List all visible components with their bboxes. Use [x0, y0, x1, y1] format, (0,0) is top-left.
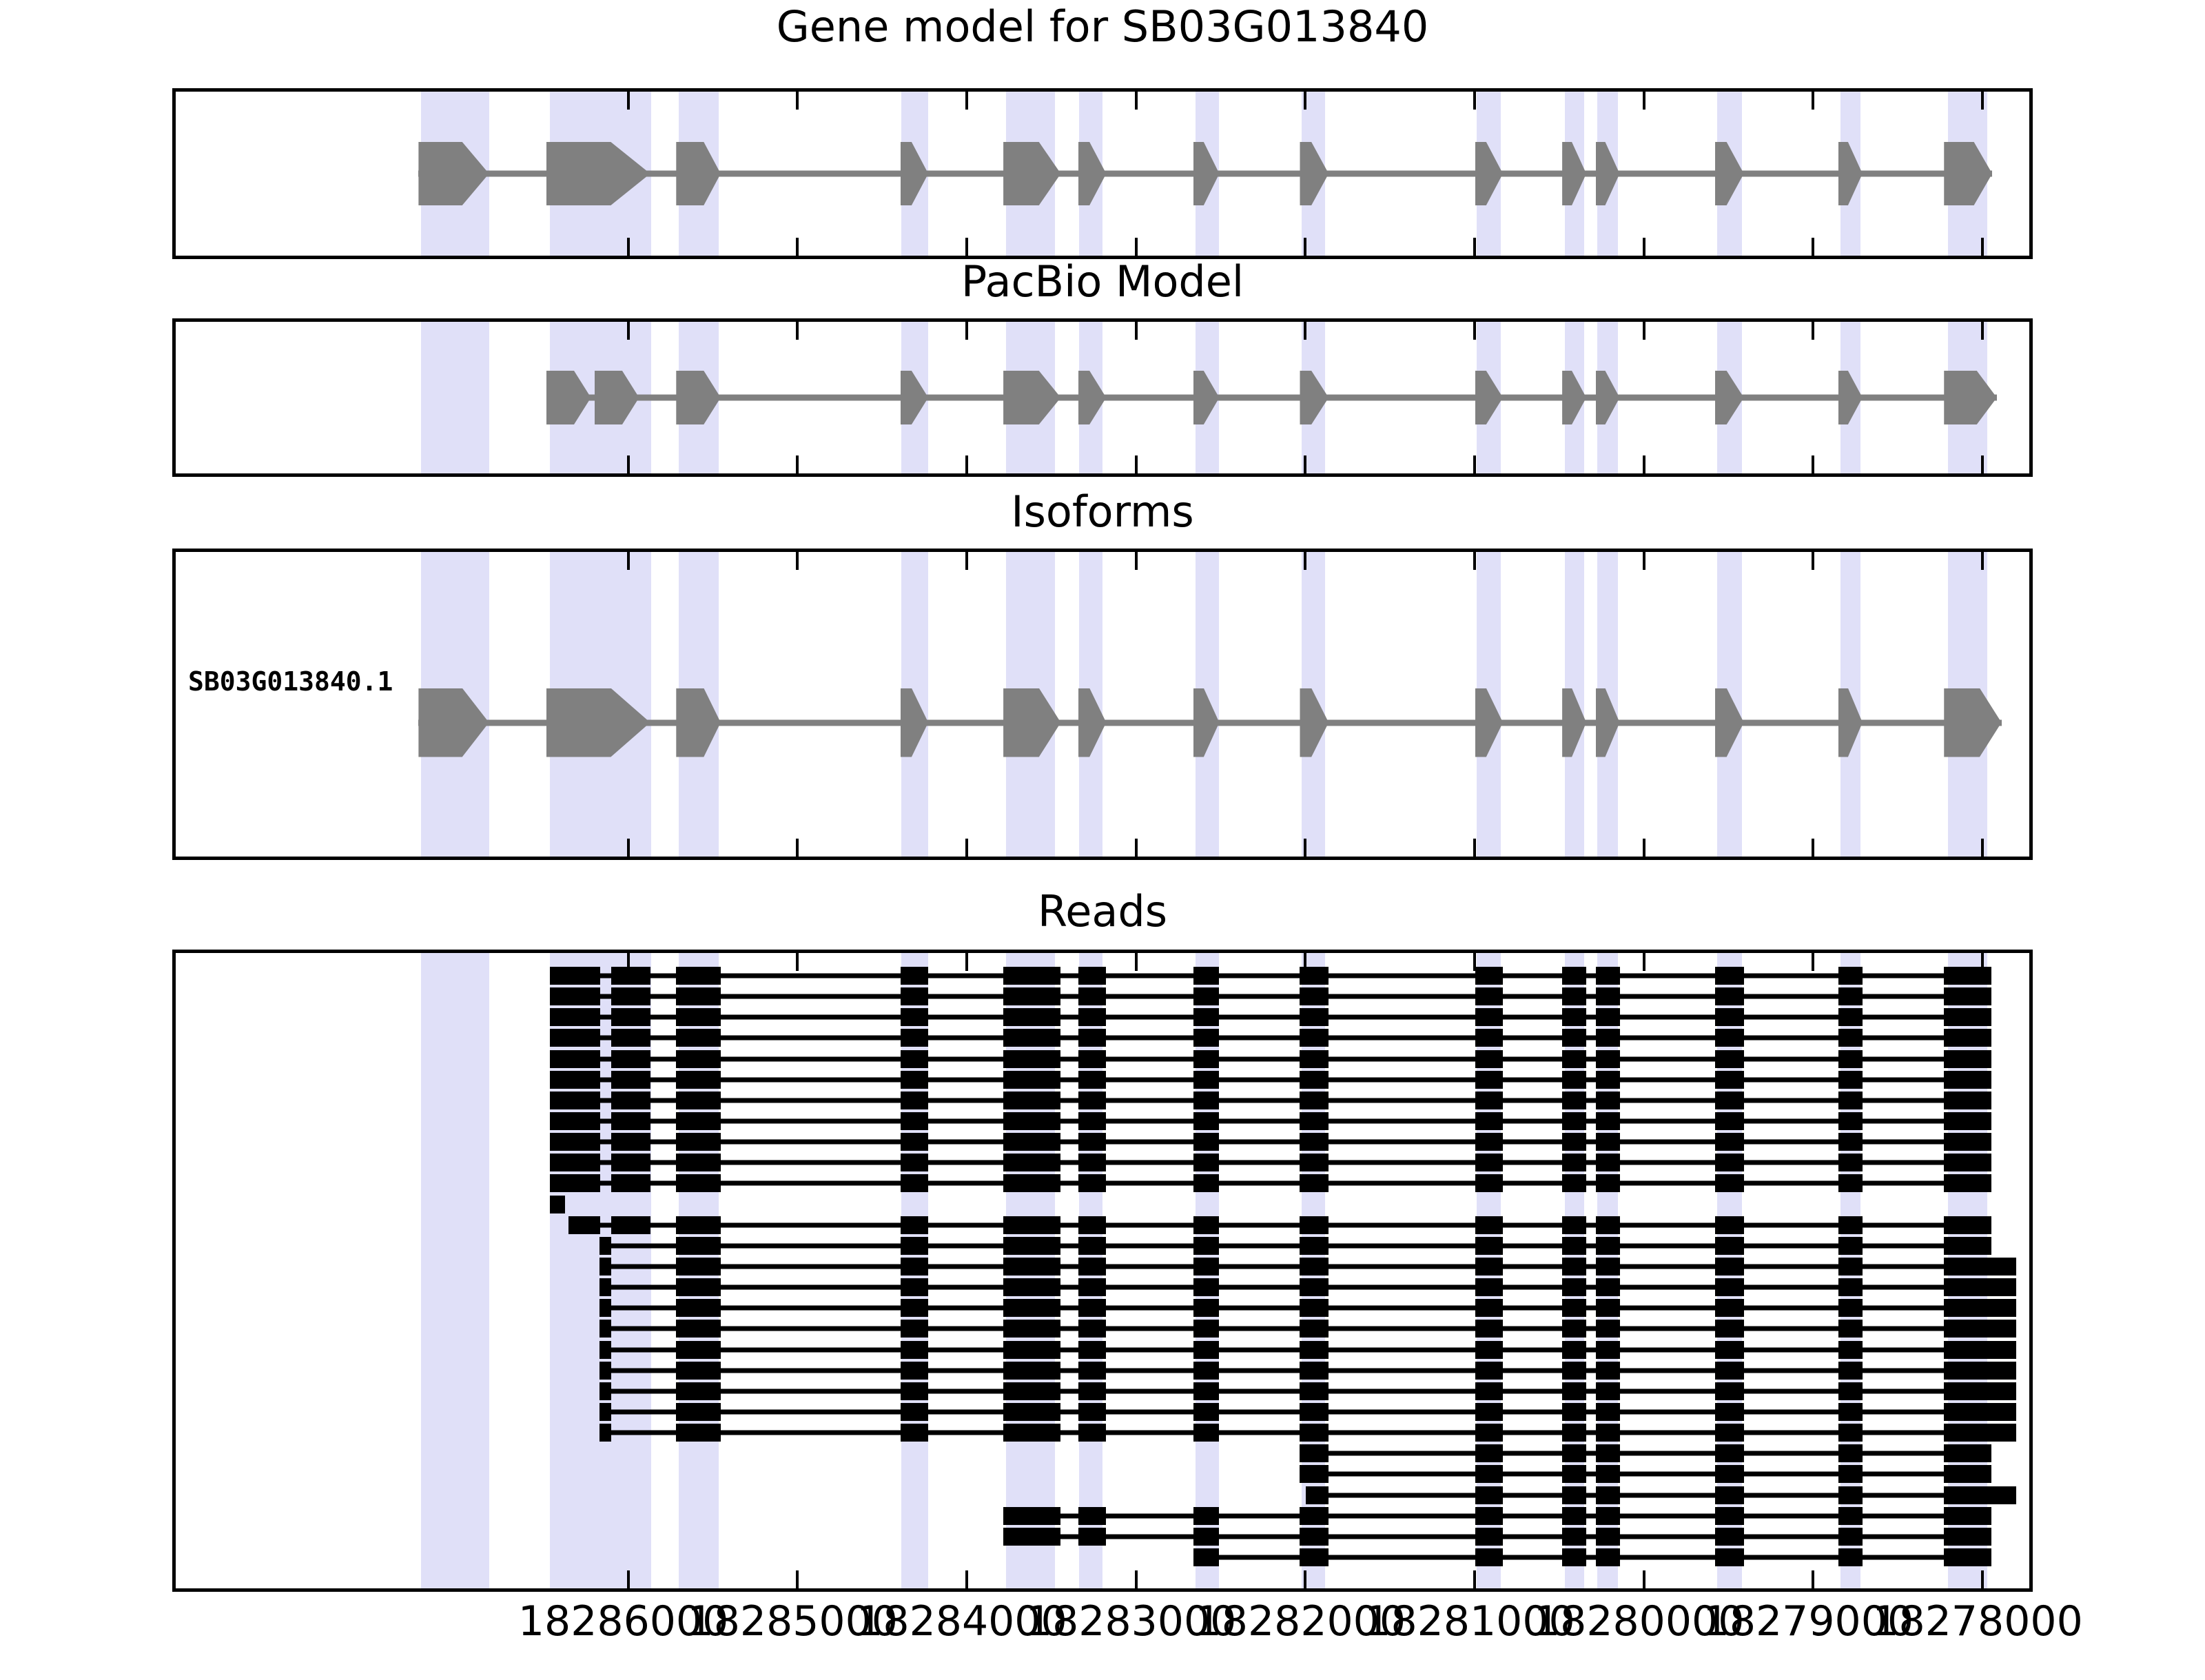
read-exon-block [676, 1403, 721, 1421]
read-exon-block [676, 1278, 721, 1296]
read-exon-block [1562, 1362, 1586, 1380]
axis-tick [1981, 839, 1984, 857]
axis-tick [1643, 953, 1645, 971]
read-exon-block [1300, 1507, 1329, 1525]
axis-tick [1135, 953, 1138, 971]
read-exon-block [1300, 1216, 1329, 1234]
read-exon-block [1562, 1071, 1586, 1089]
intron-line [546, 395, 1997, 401]
read-exon-block [1596, 1029, 1620, 1047]
axis-tick [1473, 1570, 1476, 1588]
read-exon-block [1715, 1382, 1744, 1400]
read-exon-block [1193, 1112, 1220, 1130]
read-exon-block [1300, 1320, 1329, 1338]
axis-tick [1304, 839, 1306, 857]
read-exon-block [1838, 1465, 1863, 1483]
read-exon-block [1944, 1424, 2016, 1442]
read-exon-block [1300, 1092, 1329, 1109]
read-exon-block [676, 1362, 721, 1380]
read-exon-block [1596, 1444, 1620, 1462]
axis-tick [1981, 92, 1984, 110]
read-exon-block [1838, 1278, 1863, 1296]
read-exon-block [1078, 1112, 1106, 1130]
read-exon-block [568, 1216, 600, 1234]
read-exon-block [1596, 1507, 1620, 1525]
read-exon-block [1300, 1029, 1329, 1047]
read-exon-block [599, 1299, 611, 1317]
read-exon-block [901, 1299, 928, 1317]
read-exon-block [1838, 1320, 1863, 1338]
read-exon-block [1715, 1174, 1744, 1192]
axis-tick [1304, 92, 1306, 110]
read-exon-block [1003, 1362, 1060, 1380]
read-exon-block [1193, 1154, 1220, 1171]
read-exon-block [1838, 1216, 1863, 1234]
axis-tick [1812, 953, 1814, 971]
read-exon-block [1838, 1299, 1863, 1317]
read-exon-block [901, 1237, 928, 1255]
read-exon-block [1944, 1341, 2016, 1359]
read-exon-block [901, 1216, 928, 1234]
read-exon-block [1193, 1403, 1220, 1421]
read-exon-block [901, 1133, 928, 1151]
read-exon-block [1562, 1382, 1586, 1400]
read-exon-block [1003, 1174, 1060, 1192]
read-exon-block [1596, 1050, 1620, 1068]
read-exon-block [1078, 1362, 1106, 1380]
axis-tick [965, 455, 968, 473]
axis-tick [627, 455, 630, 473]
read-exon-block [1003, 1029, 1060, 1047]
axis-tick [627, 322, 630, 340]
read-exon-block [1944, 1465, 1991, 1483]
read-exon-block [1715, 1403, 1744, 1421]
read-exon-block [611, 987, 650, 1005]
read-exon-block [1078, 1174, 1106, 1192]
read-exon-block [1193, 1258, 1220, 1276]
read-exon-block [1300, 1050, 1329, 1068]
axis-tick [1135, 92, 1138, 110]
read-exon-block [901, 1320, 928, 1338]
read-exon-block [1475, 1444, 1503, 1462]
read-exon-block [611, 967, 650, 985]
read-exon-block [1003, 1299, 1060, 1317]
read-exon-block [1944, 1278, 2016, 1296]
read-exon-block [550, 967, 600, 985]
axis-tick [1643, 455, 1645, 473]
read-exon-block [1003, 1341, 1060, 1359]
read-exon-block [1562, 1112, 1586, 1130]
read-exon-block [1562, 1029, 1586, 1047]
read-exon-block [1715, 1507, 1744, 1525]
read-alignment-line [1300, 1472, 1991, 1477]
read-exon-block [1193, 1320, 1220, 1338]
read-exon-block [1562, 1528, 1586, 1546]
read-exon-block [1838, 1154, 1863, 1171]
read-exon-block [1596, 1299, 1620, 1317]
read-exon-block [676, 1029, 721, 1047]
read-exon-block [599, 1237, 611, 1255]
read-exon-block [1300, 1278, 1329, 1296]
axis-tick [796, 839, 799, 857]
read-exon-block [1078, 1133, 1106, 1151]
read-exon-block [550, 1029, 600, 1047]
pacbio-model-axes [172, 318, 2033, 477]
read-exon-block [1596, 1237, 1620, 1255]
axis-tick [1812, 238, 1814, 256]
read-exon-block [550, 987, 600, 1005]
read-exon-block [1596, 1486, 1620, 1504]
read-exon-block [1944, 1548, 1991, 1566]
axis-tick [1812, 92, 1814, 110]
read-alignment-line [599, 1243, 1991, 1248]
read-exon-block [1838, 1029, 1863, 1047]
read-exon-block [901, 1071, 928, 1089]
read-exon-block [1715, 1216, 1744, 1234]
read-exon-block [676, 1299, 721, 1317]
read-exon-block [1562, 1424, 1586, 1442]
axis-tick [1135, 839, 1138, 857]
read-exon-block [550, 1196, 565, 1213]
read-exon-block [1078, 987, 1106, 1005]
read-exon-block [1838, 1092, 1863, 1109]
read-exon-block [1078, 1528, 1106, 1546]
read-exon-block [1562, 1465, 1586, 1483]
read-exon-block [1078, 1320, 1106, 1338]
axis-tick [796, 238, 799, 256]
read-exon-block [1838, 1424, 1863, 1442]
read-exon-block [1003, 1278, 1060, 1296]
read-exon-block [1300, 1071, 1329, 1089]
read-exon-block [1715, 1548, 1744, 1566]
read-exon-block [1475, 1528, 1503, 1546]
read-exon-block [1944, 967, 1991, 985]
read-exon-block [611, 1133, 650, 1151]
read-alignment-line [1300, 1451, 1991, 1456]
read-exon-block [1715, 1154, 1744, 1171]
read-exon-block [901, 1278, 928, 1296]
read-exon-block [901, 1362, 928, 1380]
read-exon-block [1596, 1071, 1620, 1089]
read-exon-block [1193, 967, 1220, 985]
read-exon-block [1475, 967, 1503, 985]
read-exon-block [1596, 1278, 1620, 1296]
read-exon-block [1003, 1424, 1060, 1442]
axis-tick [965, 552, 968, 570]
read-exon-block [1596, 1174, 1620, 1192]
read-exon-block [1475, 1133, 1503, 1151]
axis-tick [965, 953, 968, 971]
read-exon-block [1715, 1092, 1744, 1109]
isoform-label: SB03G013840.1 [188, 666, 393, 697]
read-exon-block [676, 1382, 721, 1400]
read-exon-block [1475, 1486, 1503, 1504]
read-exon-block [1475, 1237, 1503, 1255]
read-exon-block [1003, 1133, 1060, 1151]
read-alignment-line [550, 974, 1991, 979]
read-exon-block [1003, 1320, 1060, 1338]
axis-tick [627, 238, 630, 256]
read-exon-block [1562, 1320, 1586, 1338]
read-exon-block [1078, 1278, 1106, 1296]
read-exon-block [1562, 1507, 1586, 1525]
read-exon-block [1715, 1299, 1744, 1317]
read-exon-block [1944, 1216, 1991, 1234]
read-exon-block [901, 1008, 928, 1026]
read-exon-block [1300, 1548, 1329, 1566]
read-exon-block [1838, 1133, 1863, 1151]
read-exon-block [1562, 1174, 1586, 1192]
read-exon-block [1300, 1362, 1329, 1380]
axis-tick [1473, 238, 1476, 256]
read-exon-block [1715, 1237, 1744, 1255]
read-alignment-line [550, 1181, 1991, 1186]
read-exon-block [901, 1029, 928, 1047]
read-exon-block [1944, 1403, 2016, 1421]
read-exon-block [676, 1154, 721, 1171]
read-exon-block [1193, 1362, 1220, 1380]
exon [1944, 371, 1997, 424]
read-exon-block [1715, 1112, 1744, 1130]
read-exon-block [550, 1112, 600, 1130]
read-exon-block [599, 1382, 611, 1400]
read-exon-block [1944, 1008, 1991, 1026]
axis-tick [1304, 322, 1306, 340]
read-exon-block [901, 1403, 928, 1421]
x-tick-label: 18278000 [1872, 1597, 2082, 1646]
isoforms-axes: SB03G013840.1 [172, 549, 2033, 860]
axis-tick [1135, 552, 1138, 570]
read-exon-block [550, 1133, 600, 1151]
read-exon-block [901, 1050, 928, 1068]
reads-axes [172, 950, 2033, 1592]
read-exon-block [550, 1154, 600, 1171]
read-exon-block [599, 1341, 611, 1359]
read-exon-block [1596, 1465, 1620, 1483]
gene-model-title: Gene model for SB03G013840 [0, 6, 2205, 48]
read-exon-block [599, 1362, 611, 1380]
read-exon-block [1944, 1029, 1991, 1047]
read-exon-block [1193, 1029, 1220, 1047]
read-exon-block [611, 1008, 650, 1026]
read-exon-block [1944, 1299, 2016, 1317]
axis-tick [1304, 238, 1306, 256]
read-exon-block [1193, 1216, 1220, 1234]
read-exon-block [611, 1092, 650, 1109]
axis-tick [1981, 238, 1984, 256]
read-exon-block [1596, 1092, 1620, 1109]
read-exon-block [1838, 1237, 1863, 1255]
read-exon-block [1838, 1507, 1863, 1525]
read-exon-block [676, 1341, 721, 1359]
read-exon-block [1003, 967, 1060, 985]
axis-tick [1473, 552, 1476, 570]
read-exon-block [676, 1092, 721, 1109]
axis-tick [627, 1570, 630, 1588]
read-exon-block [599, 1258, 611, 1276]
axis-tick [1981, 322, 1984, 340]
read-alignment-line [550, 1056, 1991, 1061]
read-exon-block [676, 1050, 721, 1068]
read-exon-block [550, 1008, 600, 1026]
read-exon-block [1193, 987, 1220, 1005]
read-exon-block [676, 1071, 721, 1089]
read-exon-block [1300, 1444, 1329, 1462]
axis-tick [796, 1570, 799, 1588]
read-exon-block [1944, 1258, 2016, 1276]
read-exon-block [1078, 1341, 1106, 1359]
read-exon-block [1475, 1299, 1503, 1317]
read-exon-block [1562, 1444, 1586, 1462]
read-exon-block [1300, 1424, 1329, 1442]
axis-tick [1135, 322, 1138, 340]
read-exon-block [1944, 1092, 1991, 1109]
read-exon-block [1475, 987, 1503, 1005]
read-exon-block [1715, 1341, 1744, 1359]
read-exon-block [1078, 1008, 1106, 1026]
axis-tick [1812, 1570, 1814, 1588]
read-exon-block [1944, 1112, 1991, 1130]
read-exon-block [1003, 1216, 1060, 1234]
read-exon-block [1944, 1362, 2016, 1380]
read-exon-block [611, 1216, 650, 1234]
read-exon-block [1475, 1029, 1503, 1047]
read-exon-block [1715, 1258, 1744, 1276]
read-exon-block [1715, 1444, 1744, 1462]
read-exon-block [1715, 1362, 1744, 1380]
gene-model-axes [172, 88, 2033, 259]
read-exon-block [1944, 1486, 2016, 1504]
read-exon-block [1193, 1237, 1220, 1255]
read-alignment-line [1306, 1493, 2017, 1497]
read-exon-block [1596, 1362, 1620, 1380]
read-exon-block [1300, 1528, 1329, 1546]
read-exon-block [1300, 1133, 1329, 1151]
read-exon-block [1300, 1174, 1329, 1192]
read-exon-block [901, 1174, 928, 1192]
read-exon-block [1193, 1008, 1220, 1026]
read-exon-block [1562, 1050, 1586, 1068]
read-exon-block [1596, 1154, 1620, 1171]
axis-tick [965, 322, 968, 340]
read-exon-block [599, 1403, 611, 1421]
read-exon-block [611, 1112, 650, 1130]
x-axis-tick-labels: 1828600018285000182840001828300018282000… [0, 1597, 2205, 1680]
read-exon-block [1193, 1382, 1220, 1400]
read-exon-block [1475, 1403, 1503, 1421]
axis-tick [1812, 322, 1814, 340]
read-exon-block [1300, 1465, 1329, 1483]
read-exon-block [1944, 1320, 2016, 1338]
read-exon-block [1475, 1548, 1503, 1566]
pacbio-model-title: PacBio Model [0, 260, 2205, 303]
read-exon-block [1596, 1341, 1620, 1359]
read-exon-block [1078, 1382, 1106, 1400]
read-alignment-line [550, 1015, 1991, 1020]
read-exon-block [550, 1050, 600, 1068]
read-exon-block [1193, 1050, 1220, 1068]
exon [1944, 688, 2001, 757]
axis-tick [1643, 839, 1645, 857]
read-exon-block [1300, 1258, 1329, 1276]
read-exon-block [1715, 1465, 1744, 1483]
read-exon-block [1475, 1258, 1503, 1276]
read-exon-block [1475, 1278, 1503, 1296]
highlight-band [421, 953, 489, 1588]
read-exon-block [676, 1320, 721, 1338]
read-exon-block [1300, 1403, 1329, 1421]
read-exon-block [1475, 1154, 1503, 1171]
read-exon-block [1838, 1528, 1863, 1546]
read-exon-block [901, 987, 928, 1005]
read-exon-block [1003, 1258, 1060, 1276]
read-exon-block [1944, 1528, 1991, 1546]
read-exon-block [1562, 1548, 1586, 1566]
read-exon-block [1715, 1278, 1744, 1296]
axis-tick [1304, 1570, 1306, 1588]
read-exon-block [1715, 967, 1744, 985]
read-exon-block [1475, 1008, 1503, 1026]
read-exon-block [1193, 1092, 1220, 1109]
read-exon-block [1300, 1299, 1329, 1317]
read-exon-block [1562, 1486, 1586, 1504]
read-exon-block [1596, 1008, 1620, 1026]
axis-tick [1812, 552, 1814, 570]
read-exon-block [1715, 1486, 1744, 1504]
read-exon-block [1596, 1382, 1620, 1400]
read-exon-block [1944, 1154, 1991, 1171]
axis-tick [796, 953, 799, 971]
read-exon-block [1838, 1382, 1863, 1400]
read-alignment-line [550, 1140, 1991, 1145]
read-exon-block [1596, 1112, 1620, 1130]
isoforms-title: Isoforms [0, 491, 2205, 533]
read-exon-block [1003, 1403, 1060, 1421]
read-exon-block [1596, 1133, 1620, 1151]
read-exon-block [599, 1278, 611, 1296]
read-exon-block [676, 1424, 721, 1442]
axis-tick [1812, 839, 1814, 857]
read-exon-block [611, 1071, 650, 1089]
read-exon-block [1003, 1092, 1060, 1109]
axis-tick [1981, 552, 1984, 570]
axis-tick [1981, 455, 1984, 473]
axis-tick [627, 552, 630, 570]
axis-tick [1473, 92, 1476, 110]
axis-tick [1135, 1570, 1138, 1588]
read-exon-block [1944, 1050, 1991, 1068]
read-exon-block [1838, 1174, 1863, 1192]
axis-tick [1135, 238, 1138, 256]
read-exon-block [1562, 1278, 1586, 1296]
read-exon-block [1475, 1216, 1503, 1234]
read-exon-block [1475, 1424, 1503, 1442]
read-exon-block [550, 1092, 600, 1109]
read-exon-block [1715, 1008, 1744, 1026]
read-exon-block [1562, 1237, 1586, 1255]
read-exon-block [1078, 1424, 1106, 1442]
read-exon-block [611, 1050, 650, 1068]
read-exon-block [611, 1029, 650, 1047]
highlight-band [421, 322, 489, 473]
read-exon-block [1715, 1424, 1744, 1442]
read-exon-block [676, 967, 721, 985]
read-exon-block [1078, 1237, 1106, 1255]
read-exon-block [901, 1092, 928, 1109]
read-exon-block [1596, 1320, 1620, 1338]
read-exon-block [1078, 1092, 1106, 1109]
read-exon-block [1596, 1528, 1620, 1546]
